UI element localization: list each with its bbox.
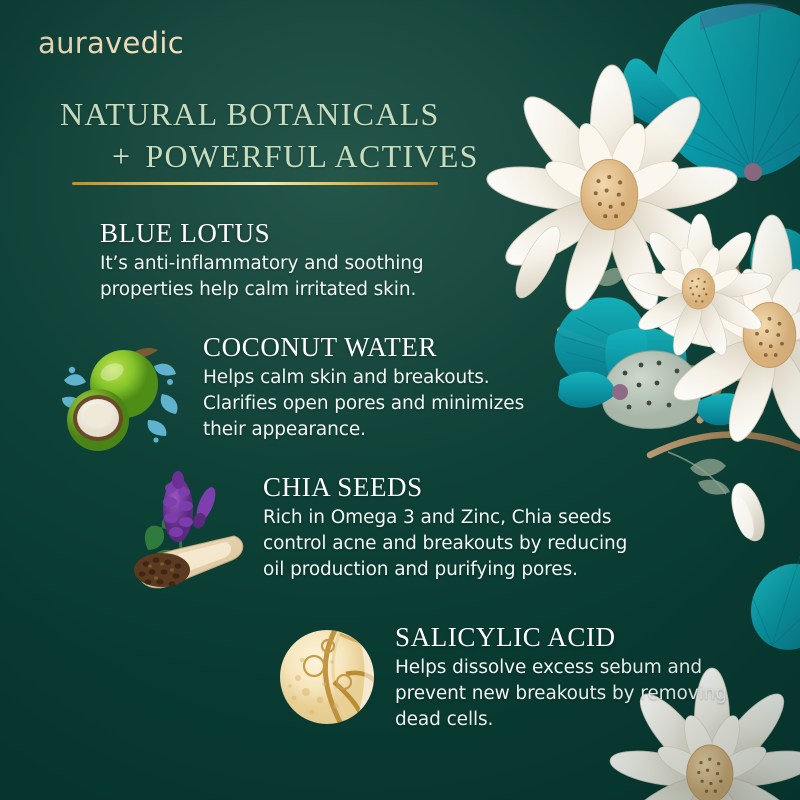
ingredient-salicylic-acid: SALICYLIC ACID Helps dissolve excess seb… [395, 622, 785, 733]
coconut-icon [58, 336, 180, 454]
salicylic-serum-icon [276, 626, 378, 728]
lotus-leaf-small-right [750, 228, 800, 295]
chia-seeds-pile [134, 553, 190, 587]
chia-flower-spike [163, 471, 193, 542]
desc-line: properties help calm irritated skin. [100, 277, 520, 303]
headline-line-2: +POWERFUL ACTIVES [60, 135, 530, 177]
chia-seeds-icon [126, 470, 250, 596]
lotus-flower-bottom [626, 214, 774, 359]
desc-line: Rich in Omega 3 and Zinc, Chia seeds [263, 505, 663, 531]
ingredient-description: Helps dissolve excess sebum and prevent … [395, 655, 785, 733]
ingredient-description: Rich in Omega 3 and Zinc, Chia seeds con… [263, 505, 663, 583]
ingredient-blue-lotus: BLUE LOTUS It’s anti-inflammatory and so… [100, 218, 520, 303]
desc-line: Helps calm skin and breakouts. [203, 365, 603, 391]
desc-line: Helps dissolve excess sebum and [395, 655, 785, 681]
desc-line: their appearance. [203, 417, 603, 443]
foliage-stem [668, 300, 730, 494]
ingredient-description: It’s anti-inflammatory and soothing prop… [100, 251, 520, 303]
headline-line-1: NATURAL BOTANICALS [60, 93, 530, 135]
coconut-half [67, 389, 129, 451]
coconut-icon-svg [58, 336, 180, 454]
gold-divider [72, 182, 438, 185]
ingredient-chia-seeds: CHIA SEEDS Rich in Omega 3 and Zinc, Chi… [263, 472, 663, 583]
lotus-seed-pod-green [603, 351, 764, 429]
ingredient-title: SALICYLIC ACID [395, 622, 785, 652]
ingredient-title: COCONUT WATER [203, 332, 603, 362]
chia-seeds-icon-svg [126, 470, 250, 596]
ingredient-title: CHIA SEEDS [263, 472, 663, 502]
ingredient-description: Helps calm skin and breakouts. Clarifies… [203, 365, 603, 443]
headline-line-2-text: POWERFUL ACTIVES [145, 138, 478, 174]
plus-symbol: + [112, 138, 145, 174]
lotus-flower-secondary [653, 215, 800, 447]
brand-logo[interactable]: auravedic [38, 26, 184, 60]
desc-line: It’s anti-inflammatory and soothing [100, 251, 520, 277]
page-title: NATURAL BOTANICALS +POWERFUL ACTIVES [60, 93, 530, 177]
desc-line: Clarifies open pores and minimizes [203, 391, 603, 417]
desc-line: oil production and purifying pores. [263, 557, 663, 583]
salicylic-serum-icon-svg [276, 626, 378, 728]
poster-canvas: auravedic NATURAL BOTANICALS +POWERFUL A… [0, 0, 800, 800]
desc-line: dead cells. [395, 707, 785, 733]
desc-line: control acne and breakouts by reducing [263, 531, 663, 557]
ingredient-coconut-water: COCONUT WATER Helps calm skin and breako… [203, 332, 603, 443]
ingredient-title: BLUE LOTUS [100, 218, 520, 248]
desc-line: prevent new breakouts by removing [395, 681, 785, 707]
lotus-seed-pod-gold [605, 328, 686, 399]
lotus-leaf-large [621, 3, 800, 181]
lotus-bud-right [725, 479, 770, 545]
chia-flower-small [190, 485, 219, 531]
foliage-sprig [596, 268, 736, 495]
